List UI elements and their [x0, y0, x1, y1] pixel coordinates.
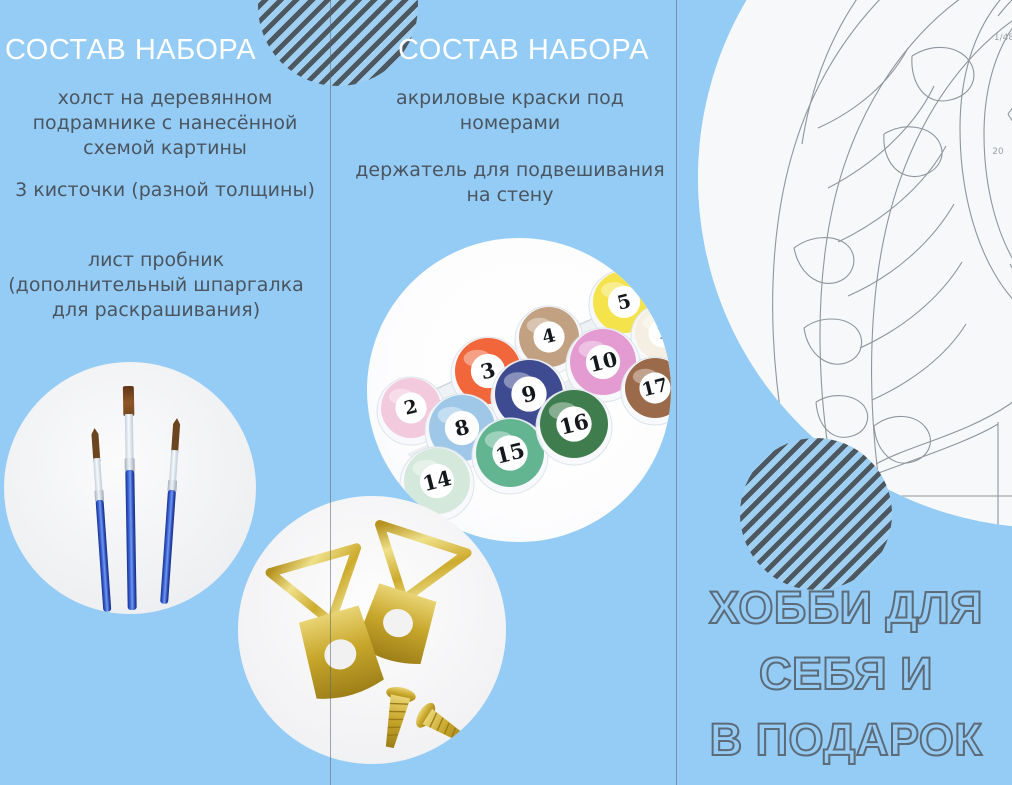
acrylic-paint-pots-photo: 23451891017141516 [367, 238, 671, 542]
hero-line-3: В ПОДАРОК [686, 714, 1006, 766]
column-1-item-sample-sheet: лист пробник (дополнительный шпаргалка д… [8, 248, 304, 323]
vertical-divider-1 [330, 0, 331, 785]
vertical-divider-2 [676, 0, 677, 785]
hatched-circle-bottom [740, 438, 892, 590]
column-1-item-canvas: холст на деревянном подрамнике с нанесён… [8, 86, 322, 161]
infographic-canvas: 82/10 10 10 82/10 20 20 20 1/20 1/20 1/2… [0, 0, 1012, 785]
paint-pot: 16 [536, 389, 612, 465]
hatched-circle-top [258, 0, 418, 86]
column-2-item-hanger: держатель для подвешивания на стену [350, 158, 670, 208]
svg-text:1/48: 1/48 [994, 33, 1012, 43]
column-1-title: СОСТАВ НАБОРА [5, 34, 256, 67]
wall-hanger-hardware-photo [238, 496, 506, 764]
column-1-item-brushes: 3 кисточки (разной толщины) [8, 178, 322, 203]
svg-text:20: 20 [992, 147, 1004, 157]
hero-line-1: ХОББИ ДЛЯ [686, 582, 1006, 634]
column-2-title: СОСТАВ НАБОРА [398, 34, 649, 67]
column-2-item-paints: акриловые краски под номерами [350, 86, 670, 136]
hero-line-2: СЕБЯ И [686, 648, 1006, 700]
paint-brushes-photo [4, 362, 256, 614]
